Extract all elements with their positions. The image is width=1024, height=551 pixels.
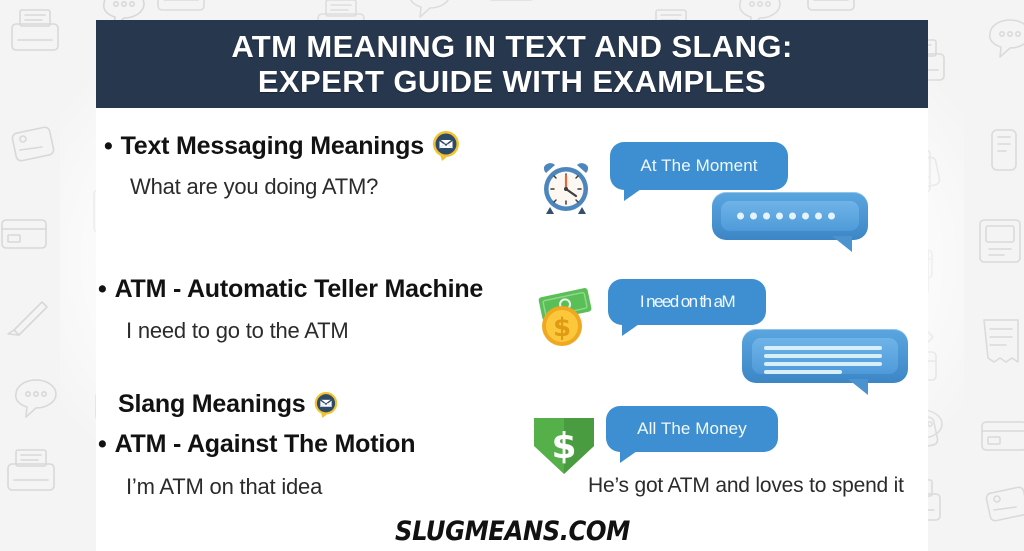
section-2-illustration: $ I need on th aM — [526, 275, 928, 395]
message-line-icon — [764, 346, 882, 350]
bubble-tail-icon — [620, 449, 640, 463]
bubble-tail-icon — [622, 322, 642, 336]
chat-bubble-text: All The Money — [637, 419, 747, 439]
bubble-inner-panel — [721, 201, 859, 231]
typing-dots-icon — [737, 213, 835, 220]
chat-bubble-message-lines — [742, 329, 908, 383]
bubble-tail-icon — [624, 187, 644, 201]
bullet-point: • — [98, 277, 107, 302]
chat-bubble-at-the-moment: At The Moment — [610, 142, 788, 190]
section-2-subtext: I need to go to the ATM — [126, 318, 348, 344]
section-3-subtext: I’m ATM on that idea — [126, 474, 322, 500]
page-title-line-1: ATM MEANING IN TEXT AND SLANG: — [231, 29, 792, 64]
slang-meanings-heading: Slang Meanings — [118, 390, 339, 419]
section-3-heading: • ATM - Against The Motion — [98, 430, 415, 459]
message-line-icon — [764, 362, 882, 366]
footer-brand: SLUGMEANS.COM — [0, 512, 1024, 551]
section-3-caption: He’s got ATM and loves to spend it — [588, 474, 904, 498]
message-line-icon — [764, 370, 842, 374]
header-banner: ATM MEANING IN TEXT AND SLANG: EXPERT GU… — [96, 20, 928, 108]
bullet-point: • — [98, 432, 107, 457]
section-text-messaging: • Text Messaging Meanings What are you d… — [96, 130, 928, 265]
section-1-subtext: What are you doing ATM? — [130, 174, 378, 200]
section-slang-meanings: Slang Meanings • ATM - Against The Motio… — [96, 390, 928, 505]
page-title-line-2: EXPERT GUIDE WITH EXAMPLES — [258, 64, 766, 99]
bullet-point: • — [104, 134, 113, 159]
dollar-shield-icon: $ — [528, 414, 600, 483]
section-1-illustration: At The Moment — [526, 130, 928, 265]
chat-bubble-all-the-money: All The Money — [606, 406, 778, 452]
chat-bubble-typing-dots — [712, 192, 868, 240]
svg-text:$: $ — [553, 313, 571, 343]
chat-bubble-i-need-atm: I need on th aM — [608, 279, 766, 325]
section-3-illustration: $ All The Money He’s got ATM and loves t… — [526, 390, 928, 505]
alarm-clock-icon — [534, 155, 598, 224]
money-coin-icon: $ — [532, 280, 602, 355]
chat-bubble-text: At The Moment — [640, 156, 757, 176]
slang-meanings-label: Slang Meanings — [118, 390, 306, 419]
bubble-inner-panel — [752, 338, 898, 374]
svg-text:$: $ — [551, 426, 576, 467]
bubble-tail-icon — [832, 236, 852, 252]
brand-label: SLUGMEANS.COM — [395, 516, 630, 547]
envelope-speech-bubble-icon — [431, 130, 461, 162]
chat-bubble-text: I need on th aM — [640, 292, 734, 312]
section-1-heading-label: Text Messaging Meanings — [121, 132, 424, 161]
section-1-heading: • Text Messaging Meanings — [104, 130, 461, 162]
section-2-heading-label: ATM - Automatic Teller Machine — [115, 275, 484, 304]
message-line-icon — [764, 354, 882, 358]
section-2-heading: • ATM - Automatic Teller Machine — [98, 275, 483, 304]
section-3-heading-label: ATM - Against The Motion — [115, 430, 416, 459]
envelope-speech-bubble-icon — [313, 391, 339, 419]
section-automatic-teller-machine: • ATM - Automatic Teller Machine I need … — [96, 275, 928, 395]
